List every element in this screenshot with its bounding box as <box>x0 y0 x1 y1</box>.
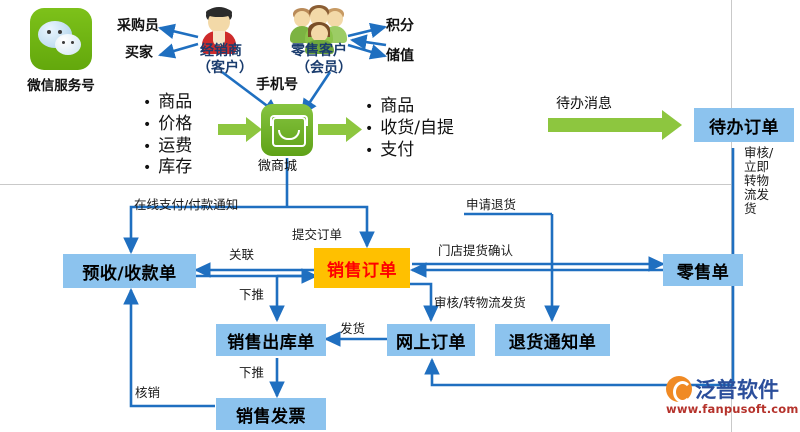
edge-label-apply-return: 申请退货 <box>466 198 516 213</box>
node-sales-order[interactable]: 销售订单 <box>314 248 410 288</box>
store-input-3: 库存 <box>158 157 192 179</box>
node-todo-order-label: 待办订单 <box>709 113 779 138</box>
node-todo-order[interactable]: 待办订单 <box>694 108 794 142</box>
store-icon <box>261 104 313 156</box>
connector-layer <box>0 0 800 432</box>
store-input-0: 商品 <box>158 92 192 114</box>
watermark: 泛普软件 www.fanpusoft.com <box>666 374 798 416</box>
node-sales-outbound-label: 销售出库单 <box>227 328 315 353</box>
node-prepay-receipt-label: 预收/收款单 <box>82 259 176 284</box>
node-retail-order-label: 零售单 <box>677 258 730 283</box>
wechat-service-account: 微信服务号 <box>14 8 108 94</box>
section-divider-vertical <box>731 0 732 432</box>
diagram-canvas: 微信服务号 经销商 （客户） 采购员 买家 零售客户 （会员） 积分 储值 手机… <box>0 0 800 432</box>
store-input-1: 价格 <box>158 114 192 136</box>
todo-order-edge-label: 审核/立即转物流发货 <box>744 146 774 216</box>
store-input-2: 运费 <box>158 136 192 158</box>
fanpu-logo-icon <box>666 376 692 402</box>
points-label: 积分 <box>386 18 414 35</box>
stored-value-label: 储值 <box>386 48 414 65</box>
todo-message-label: 待办消息 <box>556 96 612 113</box>
edge-label-relate: 关联 <box>229 248 254 263</box>
store-outputs-list: •商品 •收货/自提 •支付 <box>365 96 454 161</box>
edge-label-write-off: 核销 <box>135 386 160 401</box>
store-output-0: 商品 <box>380 96 414 118</box>
purchaser-label: 采购员 <box>117 18 159 35</box>
node-sales-outbound[interactable]: 销售出库单 <box>216 324 326 356</box>
node-prepay-receipt[interactable]: 预收/收款单 <box>63 254 196 288</box>
section-divider-horizontal <box>0 184 731 185</box>
edge-label-store-pickup: 门店提货确认 <box>438 244 513 259</box>
store-output-1: 收货/自提 <box>380 118 454 140</box>
dealer-label-line1: 经销商 <box>200 43 242 60</box>
wechat-label: 微信服务号 <box>14 74 108 94</box>
edge-label-submit-order: 提交订单 <box>292 228 342 243</box>
phone-number-label: 手机号 <box>256 77 298 94</box>
edge-label-audit-transfer: 审核/转物流发货 <box>434 296 526 311</box>
store-inputs-list: •商品 •价格 •运费 •库存 <box>143 92 192 179</box>
edge-label-ship: 发货 <box>340 322 365 337</box>
node-return-notice[interactable]: 退货通知单 <box>495 324 610 356</box>
wechat-icon <box>30 8 92 70</box>
edge-label-online-pay: 在线支付/付款通知 <box>134 198 238 213</box>
retail-customer-label-line2: （会员） <box>296 60 352 77</box>
edge-label-push-down-2: 下推 <box>239 366 264 381</box>
node-online-order[interactable]: 网上订单 <box>387 324 475 356</box>
node-return-notice-label: 退货通知单 <box>509 328 597 353</box>
node-online-order-label: 网上订单 <box>396 328 466 353</box>
dealer-label-line2: （客户） <box>197 60 253 77</box>
store-output-2: 支付 <box>380 140 414 162</box>
store-label: 微商城 <box>258 159 297 174</box>
retail-customer-label-line1: 零售客户 <box>291 43 347 60</box>
buyer-label: 买家 <box>125 45 153 62</box>
watermark-url: www.fanpusoft.com <box>666 402 798 416</box>
node-sales-invoice-label: 销售发票 <box>236 402 306 427</box>
node-retail-order[interactable]: 零售单 <box>663 254 743 286</box>
edge-label-push-down-1: 下推 <box>239 288 264 303</box>
node-sales-invoice[interactable]: 销售发票 <box>216 398 326 430</box>
node-sales-order-label: 销售订单 <box>327 256 397 281</box>
watermark-name: 泛普软件 <box>695 374 779 404</box>
